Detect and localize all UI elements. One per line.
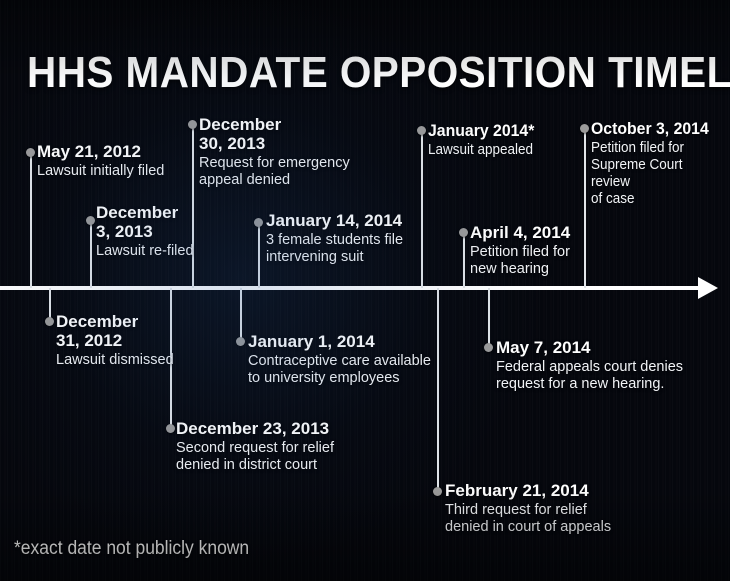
- timeline-event-december-30-2013: December 30, 2013 Request for emergency …: [199, 115, 389, 189]
- timeline-event-may-21-2012: May 21, 2012 Lawsuit initially filed: [37, 142, 207, 180]
- event-date: April 4, 2014: [470, 223, 600, 242]
- timeline-event-october-3-2014: October 3, 2014 Petition filed for Supre…: [591, 119, 730, 208]
- connector-line-december-3-2013: [90, 220, 92, 288]
- event-date: January 14, 2014: [266, 211, 441, 230]
- connector-line-may-21-2012: [30, 152, 32, 288]
- footnote-text: *exact date not publicly known: [14, 538, 249, 560]
- timeline-event-january-2014: January 2014* Lawsuit appealed: [428, 121, 578, 159]
- connector-line-april-4-2014: [463, 232, 465, 288]
- connector-line-january-1-2014: [240, 288, 242, 342]
- timeline-event-april-4-2014: April 4, 2014 Petition filed for new hea…: [470, 223, 600, 278]
- event-date: January 2014*: [428, 121, 568, 140]
- event-description: Third request for relief denied in court…: [445, 502, 660, 536]
- timeline-dot-january-14-2014: [254, 218, 263, 227]
- timeline-dot-february-21-2014: [433, 487, 442, 496]
- timeline-dot-april-4-2014: [459, 228, 468, 237]
- event-date: May 7, 2014: [496, 338, 711, 357]
- event-description: Lawsuit appealed: [428, 142, 568, 159]
- event-date: December 30, 2013: [199, 115, 389, 153]
- event-date: February 21, 2014: [445, 481, 660, 500]
- timeline-dot-january-2014: [417, 126, 426, 135]
- event-date: January 1, 2014: [248, 332, 448, 351]
- timeline-event-january-1-2014: January 1, 2014 Contraceptive care avail…: [248, 332, 448, 387]
- event-description: Contraceptive care available to universi…: [248, 353, 448, 387]
- timeline-dot-october-3-2014: [580, 124, 589, 133]
- event-date: December 31, 2012: [56, 312, 186, 350]
- event-date: December 23, 2013: [176, 419, 396, 438]
- event-date: October 3, 2014: [591, 119, 721, 138]
- timeline-event-december-31-2012: December 31, 2012 Lawsuit dismissed: [56, 312, 186, 369]
- event-description: Second request for relief denied in dist…: [176, 440, 396, 474]
- timeline-dot-december-30-2013: [188, 120, 197, 129]
- timeline-infographic: HHS MANDATE OPPOSITION TIMELINE May 21, …: [0, 0, 730, 581]
- timeline-event-december-23-2013: December 23, 2013 Second request for rel…: [176, 419, 396, 474]
- event-description: Lawsuit dismissed: [56, 352, 186, 369]
- connector-line-january-14-2014: [258, 222, 260, 288]
- page-title: HHS MANDATE OPPOSITION TIMELINE: [27, 51, 730, 95]
- timeline-axis: [0, 286, 702, 290]
- event-description: Lawsuit re-filed: [96, 243, 206, 260]
- timeline-dot-may-21-2012: [26, 148, 35, 157]
- event-description: Request for emergency appeal denied: [199, 155, 389, 189]
- timeline-arrow-icon: [698, 277, 718, 299]
- event-date: December 3, 2013: [96, 203, 206, 241]
- timeline-event-may-7-2014: May 7, 2014 Federal appeals court denies…: [496, 338, 711, 393]
- event-description: Federal appeals court denies request for…: [496, 359, 711, 393]
- event-date: May 21, 2012: [37, 142, 207, 161]
- timeline-dot-may-7-2014: [484, 343, 493, 352]
- connector-line-may-7-2014: [488, 288, 490, 348]
- timeline-dot-december-3-2013: [86, 216, 95, 225]
- timeline-event-december-3-2013: December 3, 2013 Lawsuit re-filed: [96, 203, 206, 260]
- event-description: Lawsuit initially filed: [37, 163, 207, 180]
- event-description: 3 female students file intervening suit: [266, 232, 441, 266]
- timeline-dot-december-23-2013: [166, 424, 175, 433]
- timeline-event-february-21-2014: February 21, 2014 Third request for reli…: [445, 481, 660, 536]
- timeline-event-january-14-2014: January 14, 2014 3 female students file …: [266, 211, 441, 266]
- timeline-dot-december-31-2012: [45, 317, 54, 326]
- event-description: Petition filed for Supreme Court review …: [591, 140, 721, 208]
- connector-line-february-21-2014: [437, 288, 439, 492]
- event-description: Petition filed for new hearing: [470, 244, 600, 278]
- timeline-dot-january-1-2014: [236, 337, 245, 346]
